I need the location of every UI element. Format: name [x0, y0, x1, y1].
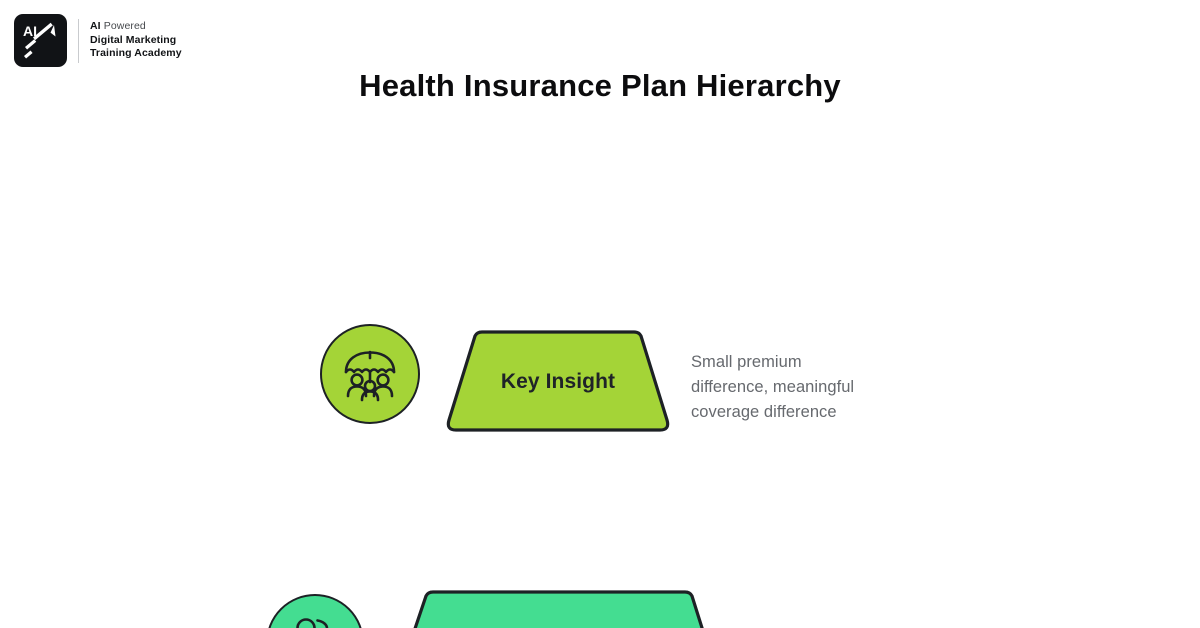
slide-canvas: AI AI Powered Digital Marketing Training… [0, 0, 1200, 628]
tier-icon-premium-plan [266, 594, 364, 628]
logo-line1-light: Powered [101, 20, 146, 32]
logo-line2: Digital Marketing [90, 34, 182, 47]
page-title: Health Insurance Plan Hierarchy [0, 68, 1200, 104]
tier-band-premium-plan[interactable]: Premium Plan [388, 590, 728, 628]
people-shield-plus-icon [266, 594, 364, 628]
logo-line1-bold: AI [90, 20, 101, 32]
logo-wordmark: AI Powered Digital Marketing Training Ac… [90, 20, 182, 60]
tier-row-premium-plan: Premium Plan Higher coverage and structu… [0, 292, 1200, 412]
logo-mark: AI [14, 14, 67, 67]
brand-logo: AI AI Powered Digital Marketing Training… [14, 14, 182, 67]
tier-row-basic-plan: Basic Plan Lower coverage and limited be… [0, 420, 1200, 545]
logo-divider [78, 19, 79, 63]
logo-line3: Training Academy [90, 47, 182, 60]
tier-row-key-insight: Key Insight Small premium difference, me… [0, 160, 1200, 280]
